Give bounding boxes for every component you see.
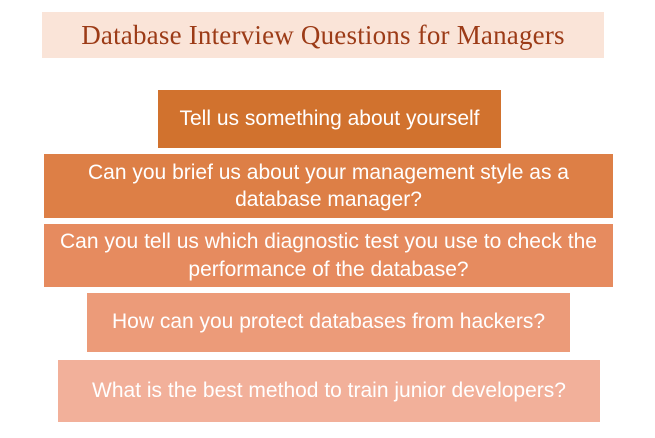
- question-label-3: Can you tell us which diagnostic test yo…: [44, 228, 613, 283]
- question-bar-5[interactable]: What is the best method to train junior …: [58, 360, 600, 422]
- title-banner: Database Interview Questions for Manager…: [42, 12, 604, 58]
- slide-canvas: Database Interview Questions for Manager…: [0, 0, 655, 438]
- question-bar-2[interactable]: Can you brief us about your management s…: [44, 154, 613, 218]
- question-bar-3[interactable]: Can you tell us which diagnostic test yo…: [44, 224, 613, 287]
- question-bar-4[interactable]: How can you protect databases from hacke…: [87, 293, 570, 352]
- question-label-2: Can you brief us about your management s…: [44, 159, 613, 214]
- question-bar-1[interactable]: Tell us something about yourself: [158, 90, 501, 148]
- question-label-4: How can you protect databases from hacke…: [87, 310, 570, 334]
- page-title: Database Interview Questions for Manager…: [81, 21, 565, 49]
- question-label-1: Tell us something about yourself: [158, 107, 501, 131]
- question-label-5: What is the best method to train junior …: [58, 379, 600, 403]
